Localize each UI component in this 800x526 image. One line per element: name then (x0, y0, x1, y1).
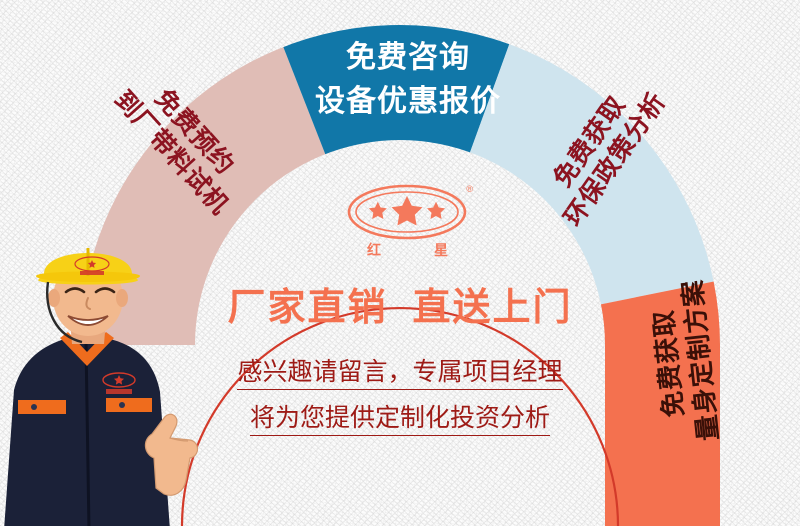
worker-ear-left (48, 289, 60, 307)
subline-2-text: 将为您提供定制化投资分析 (250, 404, 550, 436)
star-icon (369, 202, 387, 219)
promo-banner: 免费预约 到厂带料试机 免费咨询 设备优惠报价 免费获取 环保政策分析 免费获取… (0, 0, 800, 526)
headline: 厂家直销 直送上门 (200, 276, 600, 331)
worker-pocket-button-left (31, 404, 37, 410)
logo-stars-emblem (345, 182, 470, 242)
star-icon (427, 202, 445, 219)
subline-2: 将为您提供定制化投资分析 (190, 398, 610, 434)
star-icon (392, 196, 423, 226)
registered-trademark-icon: ® (466, 184, 473, 194)
logo-brand-name: 红 星 (345, 240, 470, 260)
subline-1: 感兴趣请留言，专属项目经理 (190, 352, 610, 388)
logo-brand-char-1: 红 (367, 240, 381, 260)
logo-brand-char-2: 星 (434, 240, 448, 260)
worker-pocket-right (106, 398, 152, 412)
hongxing-logo: ® 红 星 (345, 182, 470, 260)
worker-pocket-button-right (119, 402, 125, 408)
worker-pocket-left (18, 400, 66, 414)
worker-ear-right (116, 289, 128, 307)
subline-1-text: 感兴趣请留言，专属项目经理 (237, 358, 562, 390)
worker-photo (0, 240, 224, 526)
